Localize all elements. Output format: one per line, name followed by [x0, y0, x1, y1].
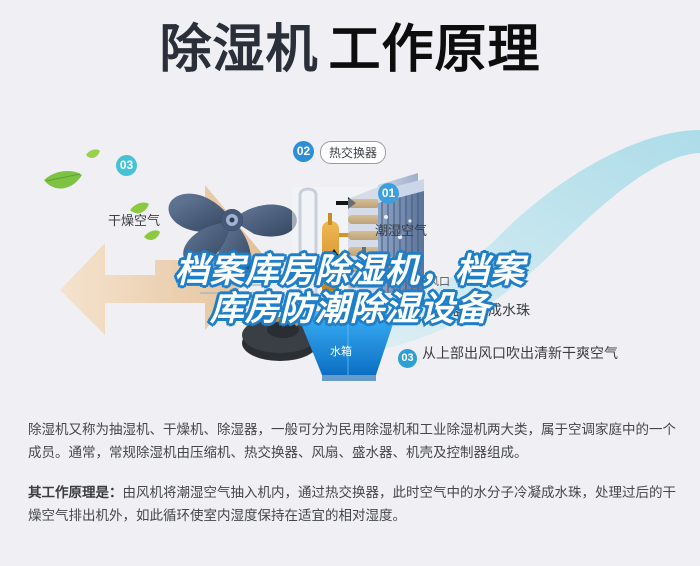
label-air-inlet: 进风口 — [417, 273, 450, 289]
page-root: 除湿机工作原理 — [0, 0, 700, 566]
title-part-principle: 工作原理 — [329, 21, 541, 79]
paragraph-2: 其工作原理是：由风机将潮湿空气抽入机内，通过热交换器，此时空气中的水分子冷凝成水… — [28, 481, 676, 527]
step-02-text: 发器冷凝成水珠 — [432, 302, 530, 318]
step-text-02: 发器冷凝成水珠 — [432, 300, 530, 320]
badge-01-top: 01 — [378, 183, 399, 204]
badge-02-top: 02 — [293, 141, 314, 162]
leaf-icon-2 — [86, 149, 100, 158]
paragraph-2-lead: 其工作原理是： — [28, 485, 123, 500]
illustration-diagram: 03 干燥空气 02 热交换器 01 潮湿空气 进风口 水箱 发器冷凝成水珠 0… — [0, 125, 700, 405]
label-dry-air: 干燥空气 — [108, 210, 160, 229]
badge-03-top: 03 — [116, 155, 137, 176]
paragraph-1: 除湿机又称为抽湿机、干燥机、除湿器，一般可分为民用除湿机和工业除湿机两大类，属于… — [28, 418, 676, 464]
title-part-dehumidifier: 除湿机 — [159, 21, 318, 79]
label-heat-exchanger: 热交换器 — [320, 141, 386, 164]
article-body: 除湿机又称为抽湿机、干燥机、除湿器，一般可分为民用除湿机和工业除湿机两大类，属于… — [28, 418, 676, 544]
label-humid-air: 潮湿空气 — [375, 220, 427, 239]
leaf-icon-4 — [144, 230, 160, 240]
compressor-cylinder — [322, 221, 339, 297]
step-text-03: 03从上部出风口吹出清新干爽空气 — [398, 343, 618, 368]
paragraph-2-rest: 由风机将潮湿空气抽入机内，通过热交换器，此时空气中的水分子冷凝成水珠，处理过后的… — [28, 485, 676, 523]
step-03-text: 从上部出风口吹出清新干爽空气 — [422, 345, 618, 361]
label-water-tank: 水箱 — [330, 343, 352, 359]
page-title: 除湿机工作原理 — [0, 24, 700, 76]
step-03-badge: 03 — [398, 349, 417, 368]
